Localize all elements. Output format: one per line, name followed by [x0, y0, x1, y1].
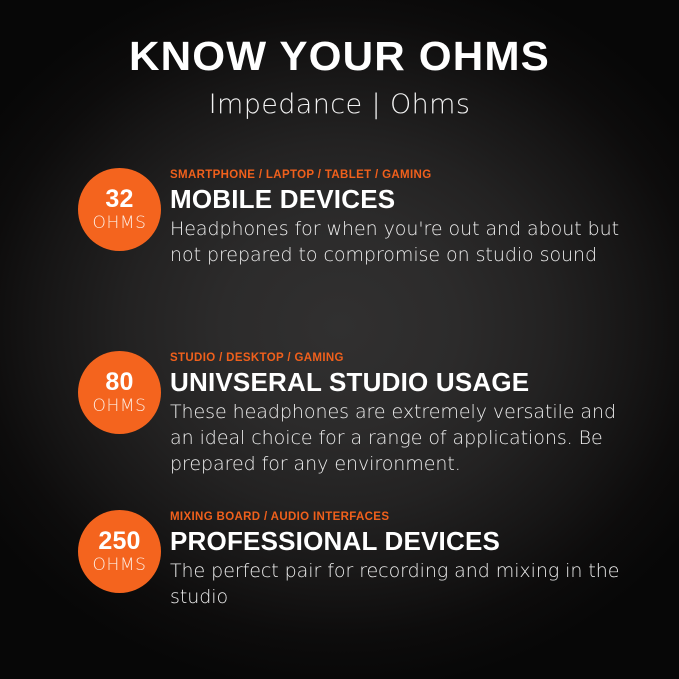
- ohm-badge-250: 250 OHMS: [78, 510, 161, 593]
- section-eyebrow: SMARTPHONE / LAPTOP / TABLET / GAMING: [170, 168, 640, 182]
- ohm-badge-value: 250: [98, 529, 140, 554]
- section-content: MIXING BOARD / AUDIO INTERFACES PROFESSI…: [170, 510, 640, 610]
- section-heading: PROFESSIONAL DEVICES: [170, 526, 640, 556]
- section-body: These headphones are extremely versatile…: [170, 399, 640, 477]
- ohm-badge-value: 32: [105, 187, 133, 212]
- section-content: SMARTPHONE / LAPTOP / TABLET / GAMING MO…: [170, 168, 640, 268]
- page-title: KNOW YOUR OHMS: [0, 33, 679, 79]
- section-eyebrow: MIXING BOARD / AUDIO INTERFACES: [170, 510, 640, 524]
- ohm-badge-value: 80: [105, 370, 133, 395]
- ohms-infographic: KNOW YOUR OHMS Impedance | Ohms 32 OHMS …: [0, 0, 679, 679]
- section-content: STUDIO / DESKTOP / GAMING UNIVSERAL STUD…: [170, 351, 640, 477]
- section-body: The perfect pair for recording and mixin…: [170, 558, 640, 610]
- section-heading: UNIVSERAL STUDIO USAGE: [170, 367, 640, 397]
- page-subtitle: Impedance | Ohms: [0, 88, 679, 122]
- ohm-badge-unit: OHMS: [92, 397, 146, 416]
- section-eyebrow: STUDIO / DESKTOP / GAMING: [170, 351, 640, 365]
- infographic-header: KNOW YOUR OHMS Impedance | Ohms: [0, 33, 679, 122]
- ohm-badge-unit: OHMS: [92, 556, 146, 575]
- section-heading: MOBILE DEVICES: [170, 184, 640, 214]
- ohm-badge-32: 32 OHMS: [78, 168, 161, 251]
- section-body: Headphones for when you're out and about…: [170, 216, 640, 268]
- ohm-badge-unit: OHMS: [92, 214, 146, 233]
- ohm-badge-80: 80 OHMS: [78, 351, 161, 434]
